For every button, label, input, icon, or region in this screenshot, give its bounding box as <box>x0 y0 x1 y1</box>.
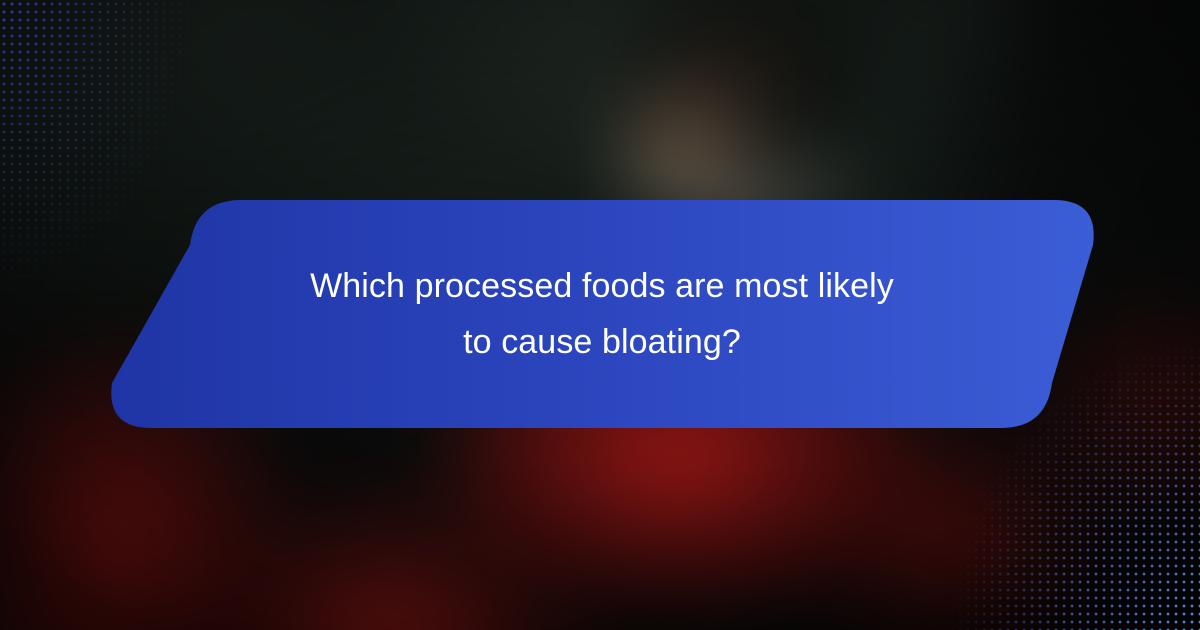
social-card-canvas: Which processed foods are most likely to… <box>0 0 1200 630</box>
headline-banner: Which processed foods are most likely to… <box>104 199 1100 429</box>
headline-text: Which processed foods are most likely to… <box>232 199 972 429</box>
